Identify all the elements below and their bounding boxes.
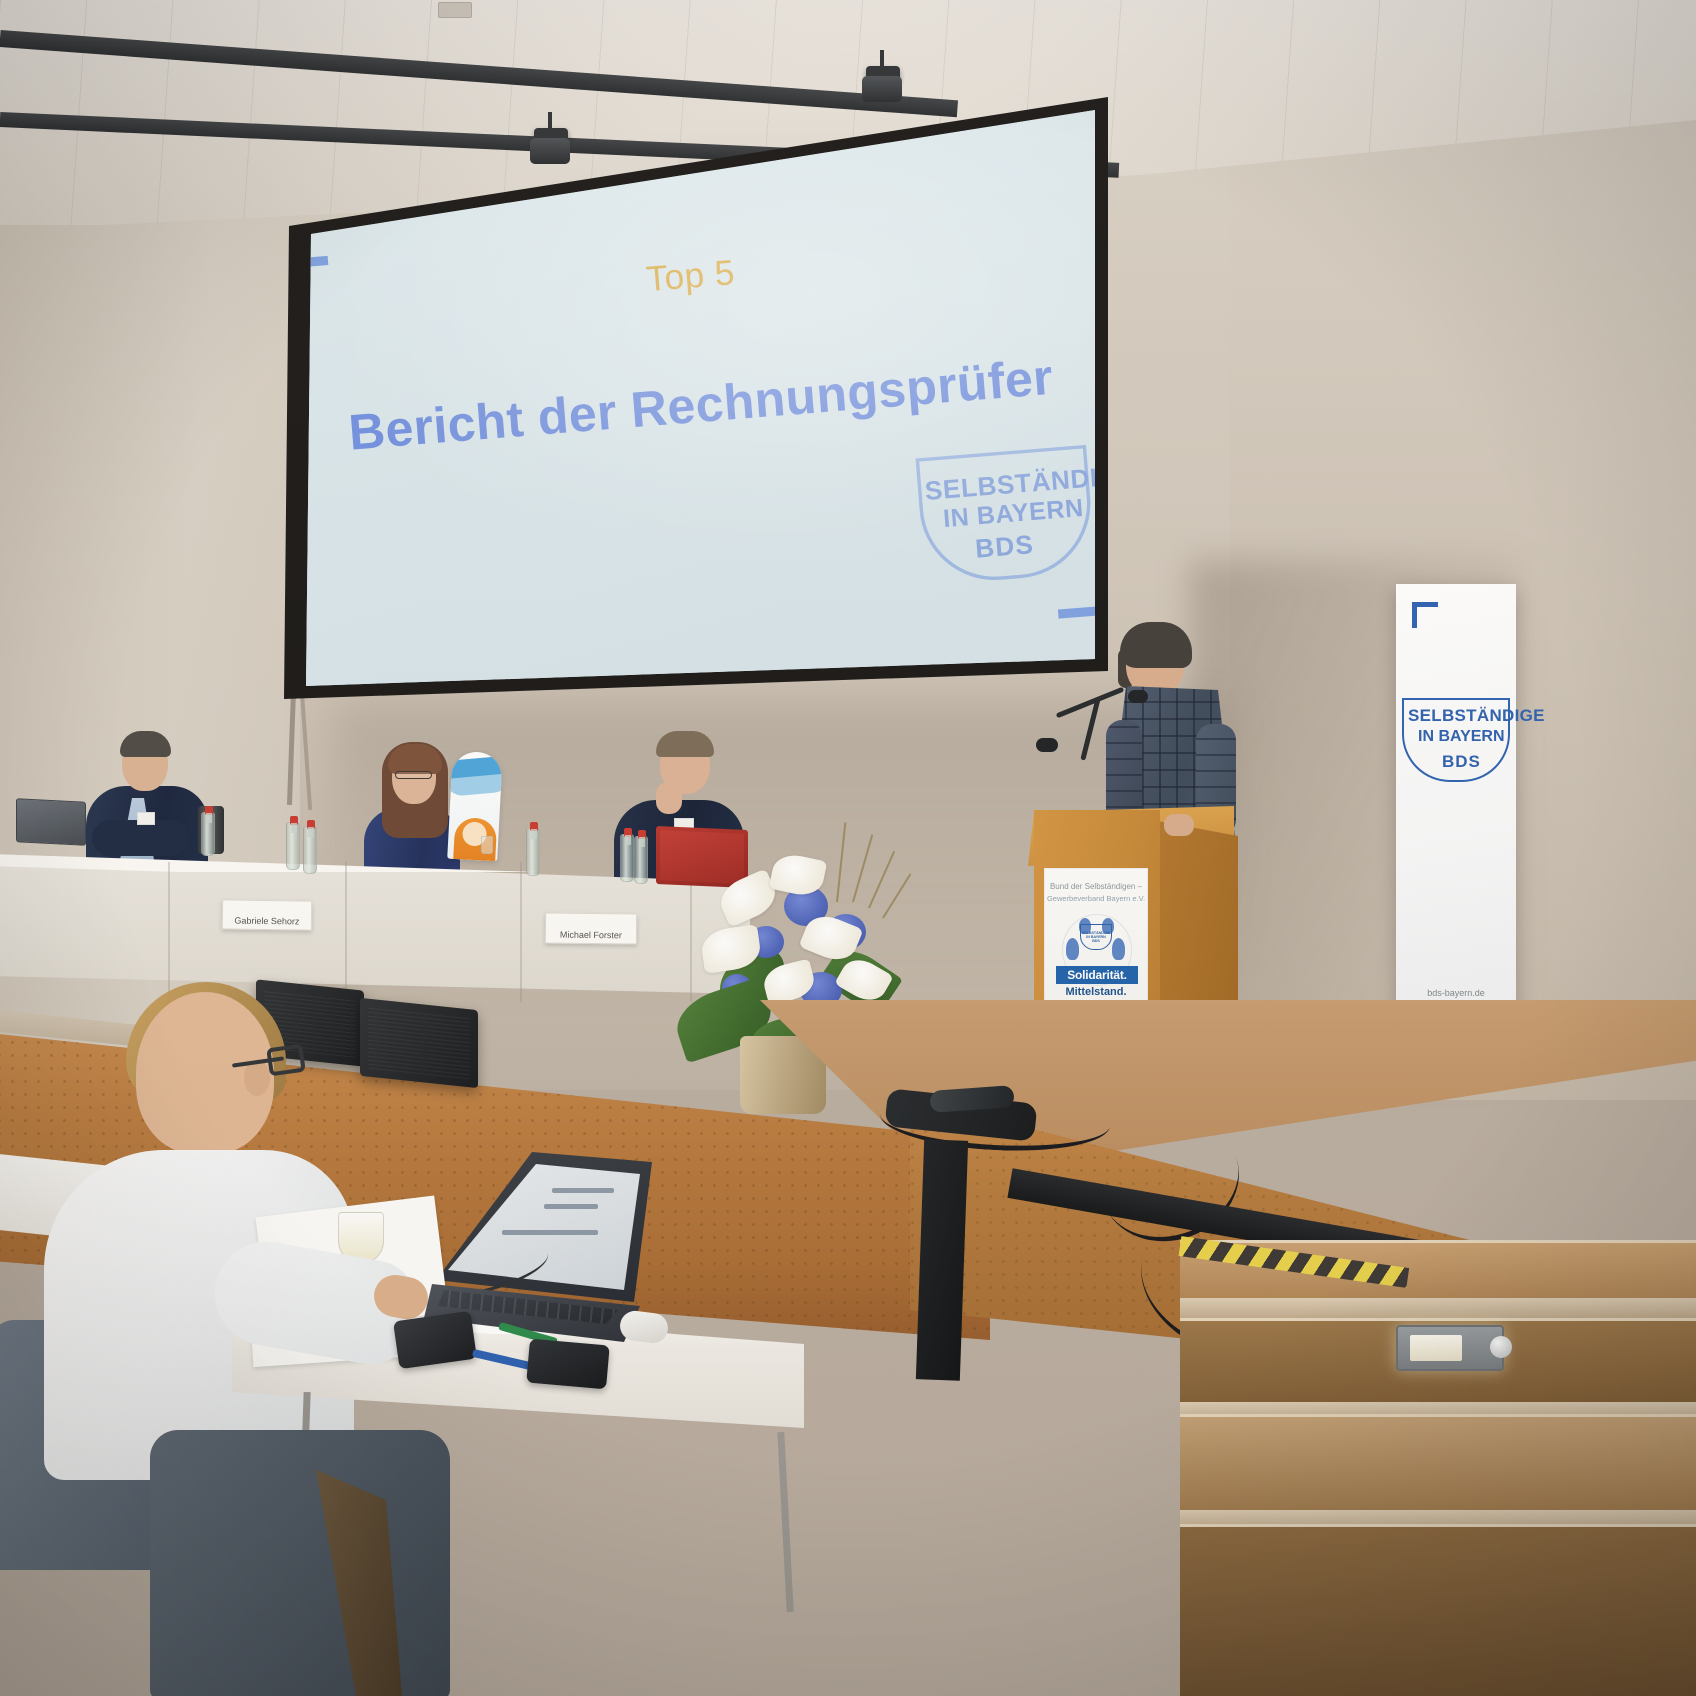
name-placard: Gabriele Sehorz — [222, 899, 312, 930]
speaker-hair — [1120, 622, 1192, 668]
panel-member-right-hand — [656, 782, 682, 814]
stage-stairs[interactable] — [1180, 1240, 1696, 1696]
lectern-sign-line-2: Gewerbeverband Bayern e.V. — [1044, 894, 1148, 903]
name-badge — [137, 812, 155, 825]
spotlight-icon — [534, 128, 568, 144]
person-figure-icon — [1112, 938, 1125, 960]
slogan-secondary: Mittelstand. — [1044, 986, 1148, 998]
panel-member-left-arm — [92, 820, 188, 856]
tablecloth-fold — [520, 862, 522, 1002]
lectern-sign-line-1: Bund der Selbständigen – — [1044, 882, 1148, 891]
dried-twig — [836, 822, 846, 902]
banner-line-2: IN BAYERN — [1418, 728, 1505, 746]
step-light-icon — [1396, 1325, 1504, 1371]
water-bottle — [620, 834, 634, 882]
shield-icon: SELBSTÄNDIGE IN BAYERN BDS — [1080, 924, 1112, 950]
microphone-icon — [1128, 690, 1148, 703]
water-bottle — [634, 836, 648, 884]
drinking-glass — [481, 836, 493, 854]
dried-twig — [868, 851, 895, 908]
banner-footer: bds-bayern.de — [1396, 988, 1516, 998]
stage-monitor-speaker — [360, 998, 478, 1088]
desk-leg — [777, 1432, 793, 1612]
cable-protector-ramp — [916, 1139, 968, 1380]
conference-hall-photo: Top 5 Bericht der Rechnungsprüfer SELBST… — [0, 0, 1696, 1696]
panel-member-center-hair-front — [388, 744, 442, 774]
glasses-icon — [395, 771, 432, 779]
laptop-silver — [16, 798, 86, 846]
dried-twig — [852, 834, 873, 902]
tablecloth-fold — [168, 862, 170, 1002]
small-table-banner — [447, 751, 503, 861]
panel-member-left-hair — [120, 731, 171, 757]
speaker-hand — [1164, 814, 1194, 836]
slide-eyebrow: Top 5 — [278, 218, 1118, 335]
bds-logo: SELBSTÄNDIGE IN BAYERN BDS — [908, 439, 1110, 591]
dried-twig — [882, 873, 911, 918]
audience-chair[interactable] — [150, 1430, 450, 1696]
banner-line-1: SELBSTÄNDIGE — [1408, 706, 1545, 726]
glasses-icon — [266, 1044, 306, 1077]
emblem-line-3: BDS — [1092, 939, 1100, 943]
slogan-primary: Solidarität. — [1056, 966, 1138, 984]
air-vent-icon — [438, 2, 472, 18]
stair-step — [1180, 1414, 1696, 1524]
water-bottle — [201, 812, 215, 856]
name-placard: Michael Forster — [545, 913, 637, 945]
logo-line-3: BDS — [974, 529, 1035, 564]
smartphone[interactable] — [526, 1339, 610, 1390]
microphone-icon — [1036, 738, 1058, 752]
water-bottle — [526, 828, 540, 876]
rollup-banner: SELBSTÄNDIGE IN BAYERN BDS bds-bayern.de — [1396, 584, 1516, 1064]
water-bottle — [286, 822, 300, 870]
step-light-knob — [1490, 1336, 1512, 1358]
panel-member-right-hair — [656, 731, 714, 757]
stair-step — [1180, 1524, 1696, 1696]
spotlight-icon — [866, 66, 900, 82]
banner-line-3: BDS — [1442, 752, 1481, 772]
water-bottle — [303, 826, 317, 874]
person-figure-icon — [1066, 938, 1079, 960]
stair-tread — [1180, 1298, 1696, 1318]
banner-corner-mark-icon — [1412, 602, 1438, 628]
tablecloth-fold — [345, 862, 347, 1002]
